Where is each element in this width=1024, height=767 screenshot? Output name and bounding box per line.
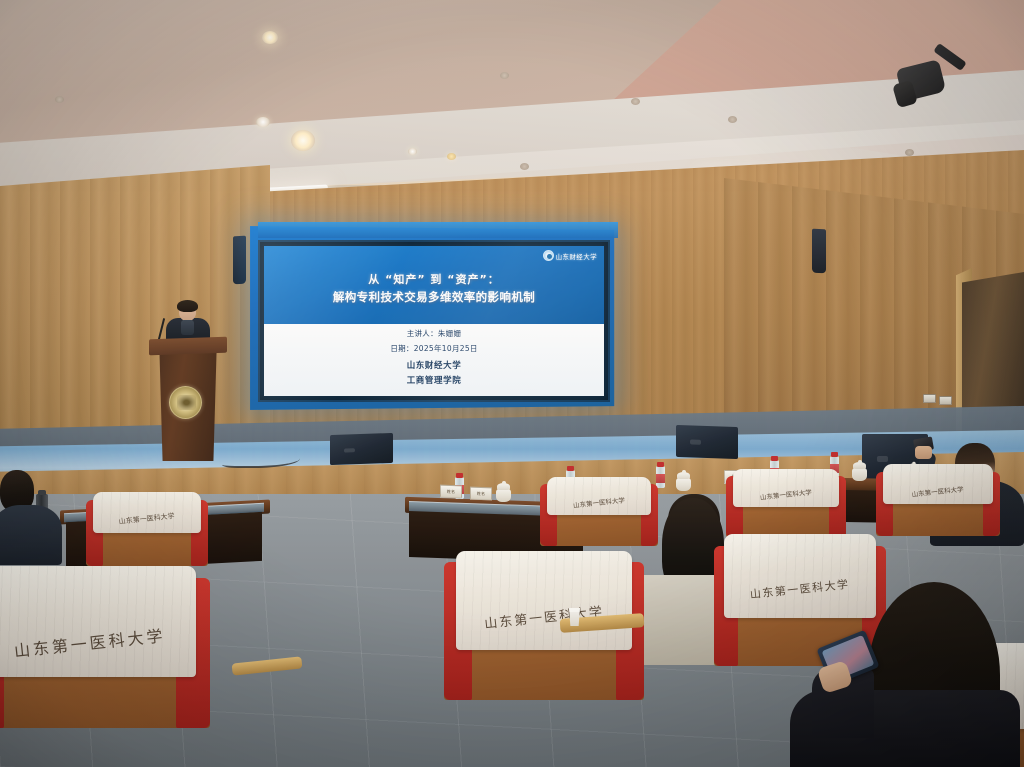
name-placard: 姓名 xyxy=(470,487,492,501)
headrest-cover: 山东第一医科大学 xyxy=(93,492,200,533)
lidded-teacup[interactable] xyxy=(676,472,691,491)
downlight-icon xyxy=(291,130,315,151)
teacup-body xyxy=(496,489,511,502)
slide-title-line-2: 解构专利技术交易多维效率的影响机制 xyxy=(333,289,535,306)
downlight-icon xyxy=(262,31,278,44)
lecture-hall-photo: 山东财经大学 从 “知产” 到 “资产”： 解构专利技术交易多维效率的影响机制 … xyxy=(0,0,1024,767)
slide-speaker-line: 主讲人：朱姗姗 xyxy=(407,328,462,340)
slide-org-line-1: 山东财经大学 xyxy=(407,360,462,373)
slide-title-line-1: 从 “知产” 到 “资产”： xyxy=(333,272,535,289)
bottle-cap xyxy=(657,462,664,467)
slide-org-line-2: 工商管理学院 xyxy=(407,375,462,388)
seat-second-1[interactable]: 山东第一医科大学 xyxy=(86,500,208,566)
slide-title: 从 “知产” 到 “资产”： 解构专利技术交易多维效率的影响机制 xyxy=(327,272,541,305)
headrest-cover: 山东第一医科大学 xyxy=(724,534,875,618)
teacup-knob xyxy=(502,481,506,485)
downlight-icon xyxy=(631,98,640,105)
headrest-cover: 山东第一医科大学 xyxy=(883,464,992,504)
bottle-cap xyxy=(771,456,778,461)
university-seal-icon xyxy=(543,250,554,261)
presenter-scarf xyxy=(181,320,194,335)
bottle-cap xyxy=(456,473,463,478)
downlight-icon xyxy=(55,96,64,103)
seated-attendee-left-shoulders xyxy=(0,505,62,565)
led-video-wall-top-strip xyxy=(258,222,618,238)
teacup-body xyxy=(676,478,691,491)
seat-front-2[interactable]: 山东第一医科大学 xyxy=(444,562,644,700)
wall-speaker xyxy=(233,236,246,285)
light-switch-panel[interactable] xyxy=(923,394,936,403)
presentation-screen[interactable]: 山东财经大学 从 “知产” 到 “资产”： 解构专利技术交易多维效率的影响机制 … xyxy=(258,240,610,402)
seat-second-2[interactable]: 山东第一医科大学 xyxy=(540,484,658,546)
lidded-teacup[interactable] xyxy=(852,462,867,481)
bottle-cap xyxy=(567,466,574,471)
bottle-cap xyxy=(831,452,838,457)
headrest-cover: 山东第一医科大学 xyxy=(0,566,196,677)
teacup-body xyxy=(852,468,867,481)
slide-university-logo: 山东财经大学 xyxy=(543,250,597,261)
downlight-icon xyxy=(520,163,529,170)
stage-monitor-speaker xyxy=(676,425,738,459)
headrest-cover: 山东第一医科大学 xyxy=(733,469,839,507)
lectern xyxy=(151,338,225,463)
university-crest-icon xyxy=(169,386,202,419)
downlight-icon xyxy=(905,149,914,156)
slide-title-band: 山东财经大学 从 “知产” 到 “资产”： 解构专利技术交易多维效率的影响机制 xyxy=(264,246,604,324)
downlight-icon xyxy=(256,117,270,127)
hand-holding-phone xyxy=(915,446,932,459)
seat-second-4[interactable]: 山东第一医科大学 xyxy=(876,472,1000,536)
teacup-knob xyxy=(682,470,686,474)
headrest-cover: 山东第一医科大学 xyxy=(456,551,632,650)
wall-speaker xyxy=(812,229,826,274)
lidded-teacup[interactable] xyxy=(496,483,511,502)
slide-logo-text: 山东财经大学 xyxy=(556,251,597,261)
downlight-icon xyxy=(408,148,417,155)
slide-info-band: 主讲人：朱姗姗 日期：2025年10月25日 山东财经大学 工商管理学院 xyxy=(264,324,604,396)
presentation-slide: 山东财经大学 从 “知产” 到 “资产”： 解构专利技术交易多维效率的影响机制 … xyxy=(264,246,604,396)
seat-front-1[interactable]: 山东第一医科大学 xyxy=(0,578,210,728)
slide-date-line: 日期：2025年10月25日 xyxy=(390,343,477,355)
headrest-cover: 山东第一医科大学 xyxy=(547,477,651,515)
name-placard-text: 姓名 xyxy=(447,488,456,494)
downlight-icon xyxy=(500,72,509,79)
lectern-top xyxy=(149,337,227,356)
security-camera-icon xyxy=(893,52,969,100)
name-placard-text: 姓名 xyxy=(477,490,486,496)
seat-second-3[interactable]: 山东第一医科大学 xyxy=(726,476,846,538)
bottle-label xyxy=(656,474,665,483)
downlight-icon xyxy=(728,116,737,123)
left-wall-wood-panel xyxy=(0,165,270,465)
stage-monitor-speaker xyxy=(330,433,393,465)
light-switch-panel[interactable] xyxy=(939,396,952,405)
downlight-icon xyxy=(447,153,456,160)
name-placard: 姓名 xyxy=(440,485,462,499)
presenter-hair xyxy=(177,300,198,312)
teacup-knob xyxy=(858,460,862,464)
